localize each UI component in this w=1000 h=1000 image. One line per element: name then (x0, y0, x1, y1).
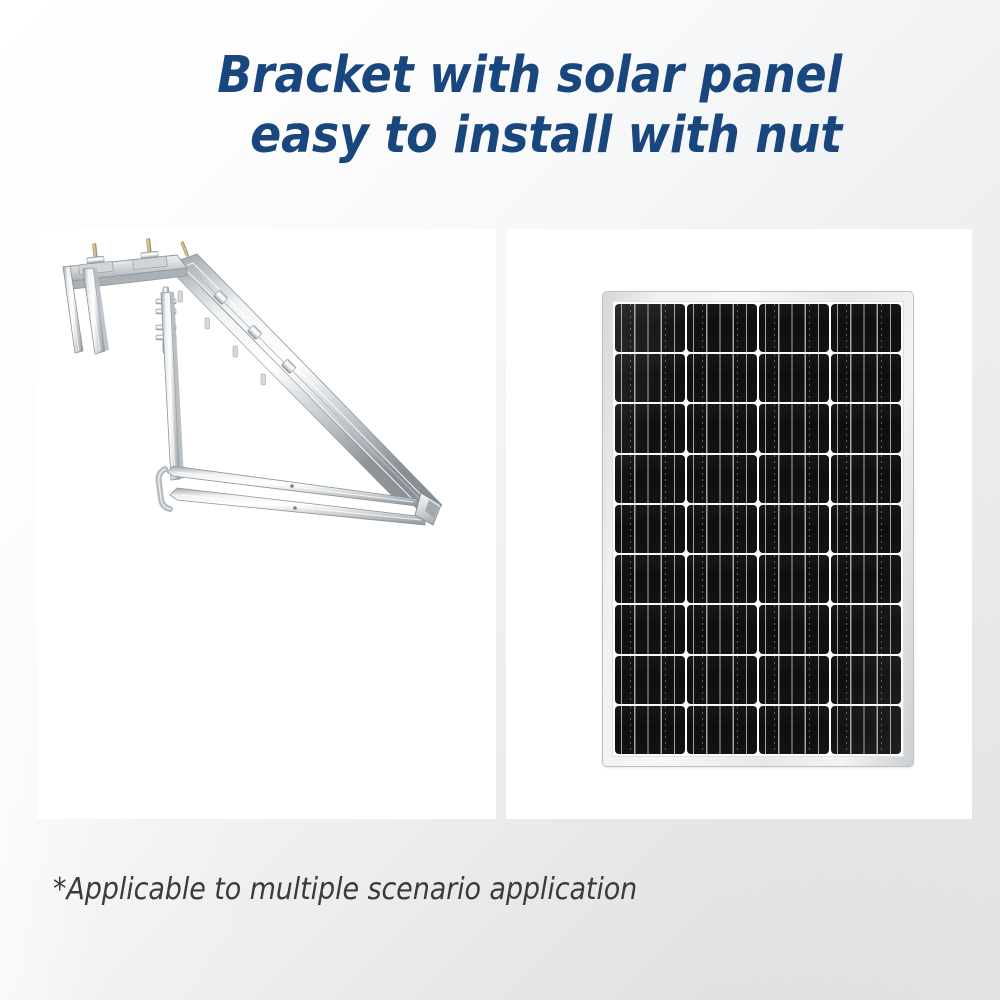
bolt-with-nut-right (141, 238, 159, 259)
solar-cell (615, 656, 685, 704)
solar-cell (831, 706, 901, 754)
bottom-base-bar-front (170, 488, 425, 525)
solar-cell (759, 505, 829, 553)
product-infographic: Bracket with solar panel easy to install… (0, 0, 1000, 1000)
bolt-with-nut-left (87, 243, 105, 264)
solar-cell (759, 455, 829, 503)
diagonal-rail-secondary (169, 265, 409, 504)
footnote-text: *Applicable to multiple scenario applica… (53, 872, 637, 907)
solar-cell (831, 404, 901, 452)
solar-cell (687, 656, 757, 704)
solar-panel-photo-card (506, 229, 972, 819)
solar-cell (759, 656, 829, 704)
solar-cell (687, 505, 757, 553)
bolt-hinge-top (180, 241, 189, 257)
solar-cell (615, 605, 685, 653)
solar-cell (831, 505, 901, 553)
solar-cell (615, 555, 685, 603)
solar-cell (687, 455, 757, 503)
solar-cell (831, 555, 901, 603)
solar-cell (687, 404, 757, 452)
solar-cell (759, 706, 829, 754)
bracket-photo-card (37, 229, 496, 819)
page-title: Bracket with solar panel easy to install… (0, 46, 842, 166)
solar-cell (615, 706, 685, 754)
solar-cell (831, 304, 901, 352)
page-title-line-1: Bracket with solar panel (0, 46, 842, 106)
solar-cell (615, 505, 685, 553)
solar-panel-module (603, 292, 913, 766)
page-title-line-2: easy to install with nut (0, 106, 842, 166)
top-mounting-plate (63, 255, 187, 289)
solar-cell (759, 304, 829, 352)
solar-cell (759, 555, 829, 603)
solar-cell (615, 455, 685, 503)
panel-cell-grid (615, 304, 901, 754)
solar-cell (687, 304, 757, 352)
solar-cell (831, 605, 901, 653)
panel-laminate (612, 301, 904, 757)
solar-cell (831, 455, 901, 503)
bracket-illustration (37, 229, 496, 819)
solar-cell (615, 304, 685, 352)
solar-cell (615, 404, 685, 452)
solar-cell (759, 354, 829, 402)
solar-cell (759, 605, 829, 653)
solar-cell (687, 555, 757, 603)
base-bar-bend (159, 469, 170, 509)
panel-aluminium-frame (603, 292, 913, 766)
solar-cell (831, 354, 901, 402)
solar-cell (687, 706, 757, 754)
solar-cell (687, 354, 757, 402)
solar-cell (831, 656, 901, 704)
solar-cell (687, 605, 757, 653)
solar-cell (615, 354, 685, 402)
vertical-support-post (161, 292, 184, 480)
solar-cell (759, 404, 829, 452)
